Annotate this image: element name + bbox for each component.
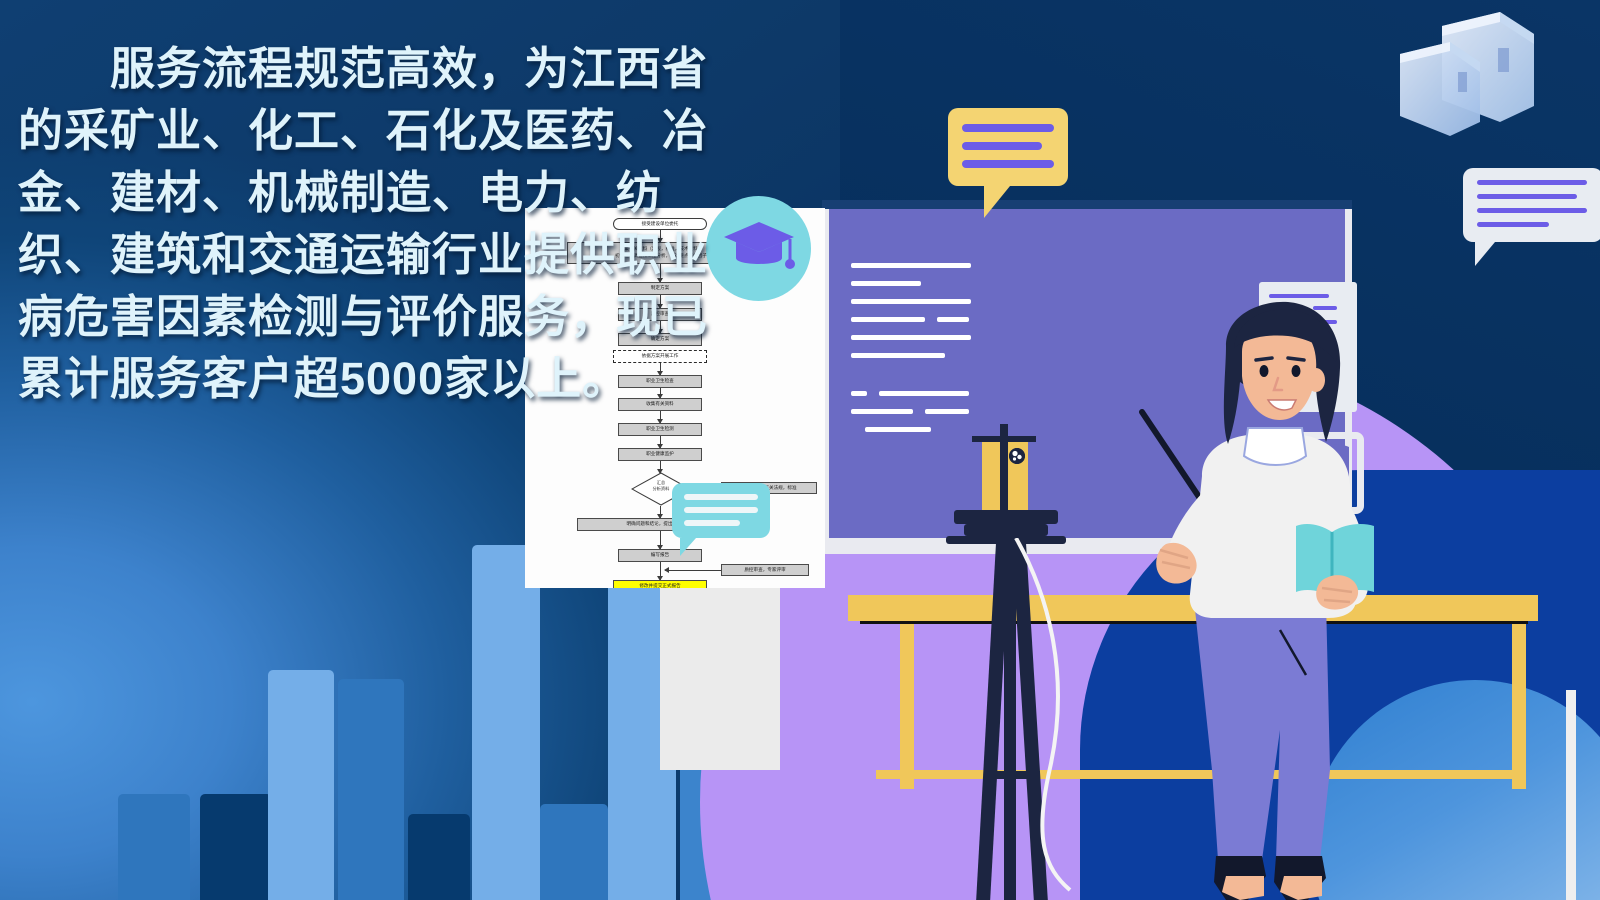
chart-bar (408, 814, 470, 900)
headline-line-6: 累计服务客户超5000家以上。 (18, 348, 778, 410)
bubble-line (1477, 208, 1587, 213)
right-white-post (1566, 690, 1576, 900)
page-title: 服务流程规范高效，为江西省 的采矿业、化工、石化及医药、冶 金、建材、机械制造、… (18, 38, 778, 410)
desk-leg (900, 621, 914, 789)
bubble-line (962, 124, 1054, 132)
poster-canvas: 服务流程规范高效，为江西省 的采矿业、化工、石化及医药、冶 金、建材、机械制造、… (0, 0, 1600, 900)
bubble-line (1477, 180, 1587, 185)
chat-bubble-white (1463, 168, 1600, 242)
flow-arrow (660, 531, 661, 549)
flow-arrow (665, 570, 721, 571)
chart-bar (200, 794, 272, 900)
flow-node-n10: 职业健康监护 (618, 448, 702, 461)
headline-line-5: 病危害因素检测与评价服务，现已 (18, 286, 778, 348)
headline-line-3: 金、建材、机械制造、电力、纺 (18, 162, 778, 224)
chart-bar (540, 804, 608, 900)
board-text-line (865, 427, 931, 432)
bubble-line (962, 160, 1054, 168)
doc-line (1269, 294, 1329, 298)
bubble-line (684, 494, 758, 500)
flow-arrow (660, 436, 661, 448)
headline-line-2: 的采矿业、化工、石化及医药、冶 (18, 100, 778, 162)
flow-arrow (660, 562, 661, 580)
board-text-line (937, 317, 969, 322)
bubble-line (1477, 194, 1577, 199)
board-text-line (925, 409, 969, 414)
projector-lens (1009, 448, 1025, 464)
chart-bar (118, 794, 190, 900)
tripod-plate (964, 524, 1048, 536)
bubble-tail (1475, 242, 1495, 266)
bubble-line (962, 142, 1042, 150)
board-text-line (851, 281, 921, 286)
teacher-figure (1130, 300, 1390, 900)
board-text-line (851, 353, 945, 358)
tripod-plate (954, 510, 1058, 524)
classroom-illustration: 接受建设单位委托 收集有关资料（法规，标准，技术资料） 初步现场调查和工程分析，… (700, 180, 1600, 900)
projector-crossbar (972, 436, 1036, 442)
board-text-line (851, 317, 925, 322)
chat-bubble-yellow (948, 108, 1068, 186)
flow-node-n9: 职业卫生检测 (618, 423, 702, 436)
board-text-line (851, 335, 971, 340)
headline-line-1: 服务流程规范高效，为江西省 (18, 38, 778, 100)
board-text-line (851, 263, 971, 268)
flow-node-n15: 质控审查，专家评审 (721, 564, 809, 576)
flow-arrow (660, 411, 661, 423)
bubble-line (684, 520, 740, 526)
flow-arrow (660, 506, 661, 518)
chat-bubble-teal (672, 483, 770, 538)
chart-bar (338, 679, 404, 900)
board-text-line (851, 409, 913, 414)
board-text-line (879, 391, 969, 396)
headline-line-4: 织、建筑和交通运输行业提供职业 (18, 224, 778, 286)
stacked-books-icon (1382, 4, 1542, 179)
board-text-line (851, 299, 971, 304)
bubble-tail (984, 186, 1010, 218)
bubble-tail (680, 538, 696, 556)
chart-bar (268, 670, 334, 900)
projector-tripod (932, 418, 1092, 888)
flow-node-n16: 修改并提交正式报告 (613, 580, 707, 588)
board-text-line (851, 391, 867, 396)
bubble-line (1477, 222, 1549, 227)
chart-bar (472, 545, 540, 900)
bubble-line (684, 507, 758, 513)
desk-leg (1512, 621, 1526, 789)
board-top-bar (822, 200, 1352, 209)
